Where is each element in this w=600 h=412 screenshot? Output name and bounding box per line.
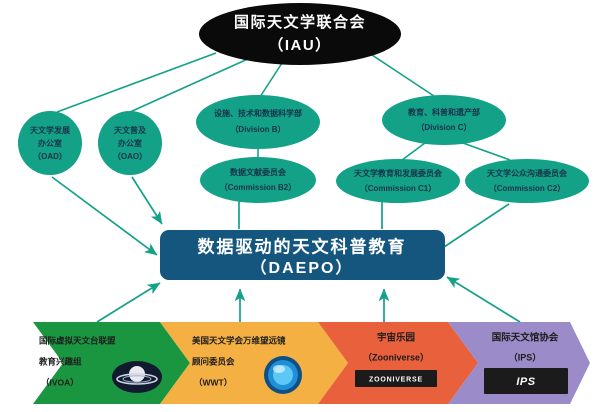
ips-logo-icon: IPS (484, 368, 568, 394)
commission-b2-label-line2: （Commission B2） (220, 182, 296, 192)
ivoa-label-line2: 教育兴趣组 (38, 356, 82, 366)
node-oad[interactable]: 天文学发展 办公室 （OAD） (18, 111, 82, 175)
wwt-label-line2: 顾问委员会 (192, 356, 235, 366)
commission-c2-label-line1: 天文学公众沟通委员会 (487, 168, 567, 178)
wwt-label-line3: （WWT） (194, 377, 232, 387)
zooniverse-label-line1: 宇宙乐园 (377, 332, 415, 344)
node-division-c[interactable]: 教育、科普和遗产部 （Division C） (382, 95, 506, 145)
ips-label-line1: 国际天文馆协会 (492, 332, 559, 344)
zooniverse-logo-label: ZOONIVERSE (369, 376, 423, 383)
wwt-logo-icon (264, 356, 302, 394)
iau-label-abbr: （IAU） (268, 36, 331, 54)
node-division-b[interactable]: 设施、技术和数据科学部 （Division B） (196, 95, 320, 149)
commission-c1-label-line2: （Commission C1） (360, 183, 436, 193)
oao-label-line3: （OAO） (113, 151, 147, 161)
oad-label-line1: 天文学发展 (30, 125, 70, 135)
division-c-label-line2: （Division C） (416, 122, 471, 132)
division-b-label-line1: 设施、技术和数据科学部 (214, 108, 302, 118)
commission-b2-ellipse (200, 157, 316, 203)
iau-label-cn: 国际天文学联合会 (234, 13, 366, 31)
node-oao[interactable]: 天文普及 办公室 （OAO） (98, 111, 162, 175)
node-commission-b2[interactable]: 数据文献委员会 （Commission B2） (200, 157, 316, 203)
node-commission-c2[interactable]: 天文学公众沟通委员会 （Commission C2） (465, 159, 589, 203)
daepo-label-line1: 数据驱动的天文科普教育 (198, 236, 407, 256)
node-iau[interactable]: 国际天文学联合会 （IAU） (199, 3, 401, 65)
commission-c2-label-line2: （Commission C2） (489, 183, 565, 193)
org-relationship-diagram: 国际天文学联合会 （IAU） 天文学发展 办公室 （OAD） 天文普及 办公室 … (0, 0, 600, 412)
ips-label-line2: （IPS） (509, 352, 542, 362)
node-partner-ivoa[interactable]: 国际虚拟天文台联盟 教育兴趣组 （IVOA） (33, 322, 190, 404)
commission-c1-ellipse (336, 159, 460, 203)
daepo-label-line2: （DAEPO） (251, 259, 354, 277)
oao-label-line1: 天文普及 (114, 125, 147, 135)
zooniverse-label-line2: （Zooniverse） (363, 352, 429, 362)
ips-logo-label: IPS (516, 376, 535, 388)
node-daepo[interactable]: 数据驱动的天文科普教育 （DAEPO） (160, 230, 445, 280)
division-b-label-line2: （Division B） (230, 124, 285, 134)
ivoa-label-line3: （IVOA） (41, 377, 79, 387)
node-layer: 国际天文学联合会 （IAU） 天文学发展 办公室 （OAD） 天文普及 办公室 … (0, 0, 600, 412)
division-b-ellipse (196, 95, 320, 149)
oao-label-line2: 办公室 (118, 138, 142, 148)
oad-label-line3: （OAD） (33, 151, 67, 161)
iau-ellipse (199, 3, 401, 65)
ivoa-logo-icon (112, 361, 162, 393)
commission-c1-label-line1: 天文学教育和发展委员会 (354, 168, 442, 178)
zooniverse-logo-icon: ZOONIVERSE (355, 370, 437, 387)
commission-c2-ellipse (465, 159, 589, 203)
ivoa-label-line1: 国际虚拟天文台联盟 (39, 335, 116, 345)
commission-b2-label-line1: 数据文献委员会 (230, 167, 286, 177)
wwt-label-line1: 美国天文学会万维望远镜 (192, 335, 286, 345)
node-commission-c1[interactable]: 天文学教育和发展委员会 （Commission C1） (336, 159, 460, 203)
division-c-label-line1: 教育、科普和遗产部 (407, 107, 480, 117)
oad-label-line2: 办公室 (38, 138, 62, 148)
division-c-ellipse (382, 95, 506, 145)
